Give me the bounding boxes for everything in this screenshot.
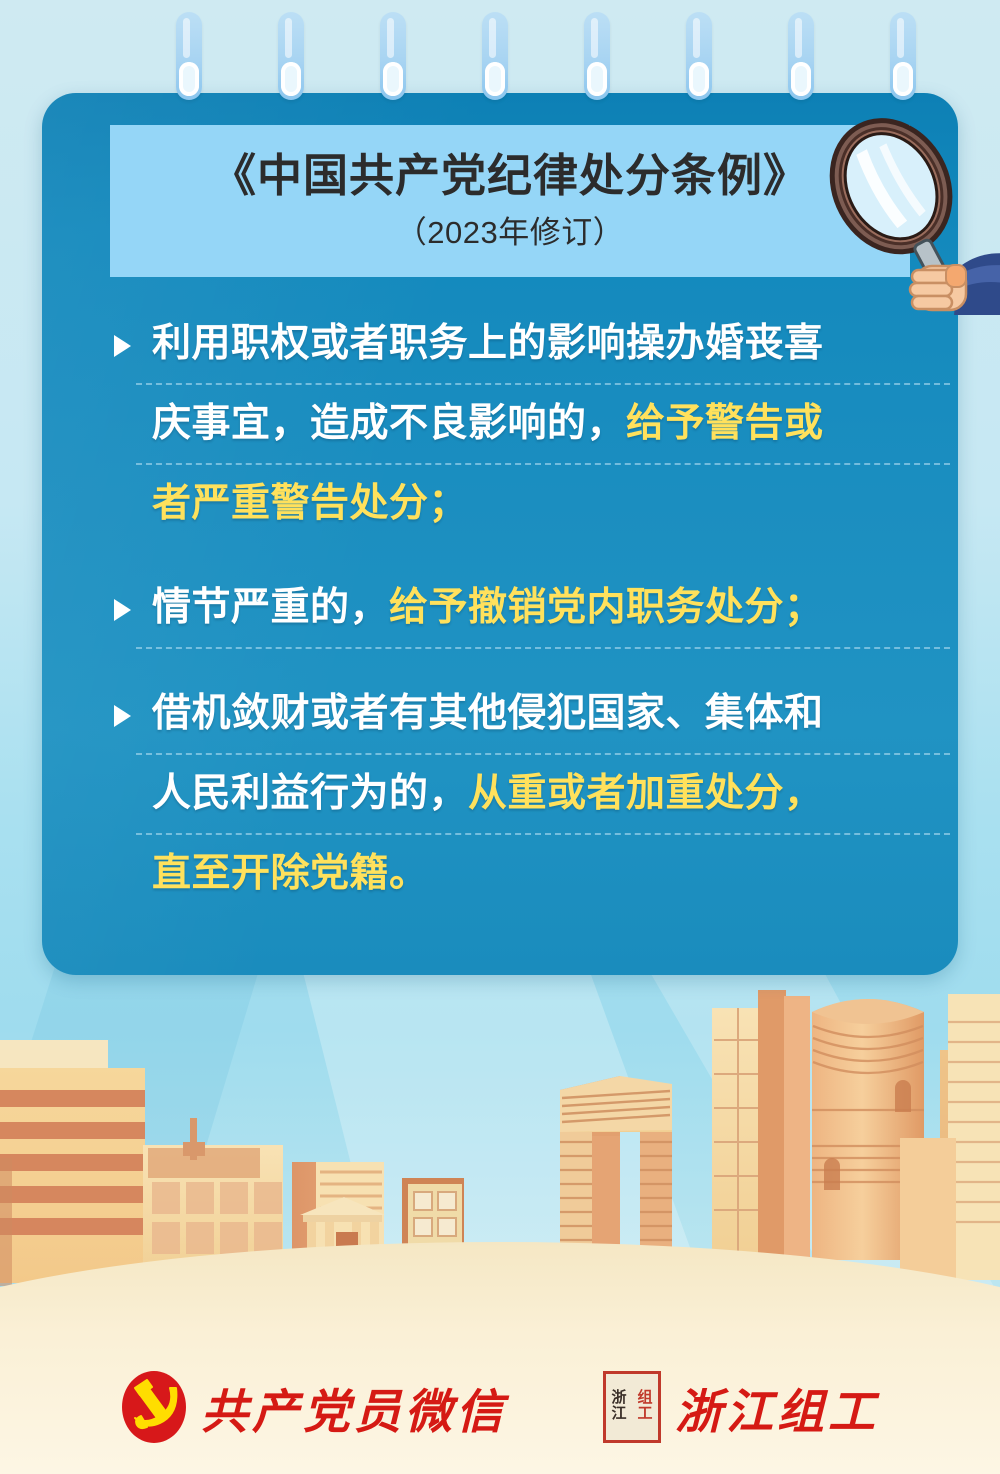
spiral-ring (482, 12, 508, 100)
title-banner: 《中国共产党纪律处分条例》 （2023年修订） (110, 125, 910, 277)
logo-label: 浙江组工 (675, 1373, 879, 1442)
spiral-ring (380, 12, 406, 100)
seal-left-text: 浙江 (606, 1391, 632, 1423)
logo-gongchandangyuan-weixin: 共产党员微信 (121, 1370, 507, 1444)
clause-line: 借机敛财或者有其他侵犯国家、集体和 (110, 675, 950, 753)
spiral-ring (278, 12, 304, 100)
page-title: 《中国共产党纪律处分条例》 (211, 150, 809, 202)
logo-zhejiang-zugong: 浙江 组工 浙江组工 (603, 1371, 879, 1443)
spacer (110, 649, 950, 675)
clause-line: 人民利益行为的，从重或者加重处分， (110, 755, 950, 833)
spacer (110, 543, 950, 569)
spiral-ring (788, 12, 814, 100)
spiral-ring (584, 12, 610, 100)
list-item: 情节严重的，给予撤销党内职务处分； (110, 569, 950, 649)
list-item: 借机敛财或者有其他侵犯国家、集体和 人民利益行为的，从重或者加重处分， 直至开除… (110, 675, 950, 913)
clause-line: 利用职权或者职务上的影响操办婚丧喜 (110, 305, 950, 383)
triangle-bullet-icon (114, 705, 131, 727)
list-item: 利用职权或者职务上的影响操办婚丧喜 庆事宜，造成不良影响的，给予警告或 者严重警… (110, 305, 950, 543)
seal-right-text: 组工 (632, 1391, 658, 1423)
triangle-bullet-icon (114, 335, 131, 357)
zhejiang-zugong-seal-icon: 浙江 组工 (603, 1371, 661, 1443)
clause-line: 庆事宜，造成不良影响的，给予警告或 (110, 385, 950, 463)
triangle-bullet-icon (114, 599, 131, 621)
magnifying-glass-icon (806, 100, 1000, 315)
regulation-clause-list: 利用职权或者职务上的影响操办婚丧喜 庆事宜，造成不良影响的，给予警告或 者严重警… (110, 305, 950, 913)
clause-line: 者严重警告处分； (110, 465, 950, 543)
poster-root: 《中国共产党纪律处分条例》 （2023年修订） 利用职权或者职务上的影响操办婚丧… (0, 0, 1000, 1474)
clause-line: 情节严重的，给予撤销党内职务处分； (110, 569, 950, 647)
spiral-ring (686, 12, 712, 100)
page-subtitle: （2023年修订） (396, 207, 624, 252)
logo-label: 共产党员微信 (201, 1373, 507, 1442)
party-emblem-icon (121, 1370, 187, 1444)
footer-logos: 共产党员微信 浙江 组工 浙江组工 (0, 1340, 1000, 1474)
clause-line: 直至开除党籍。 (110, 835, 950, 913)
spiral-ring (890, 12, 916, 100)
spiral-ring (176, 12, 202, 100)
dashed-rule (136, 647, 950, 649)
